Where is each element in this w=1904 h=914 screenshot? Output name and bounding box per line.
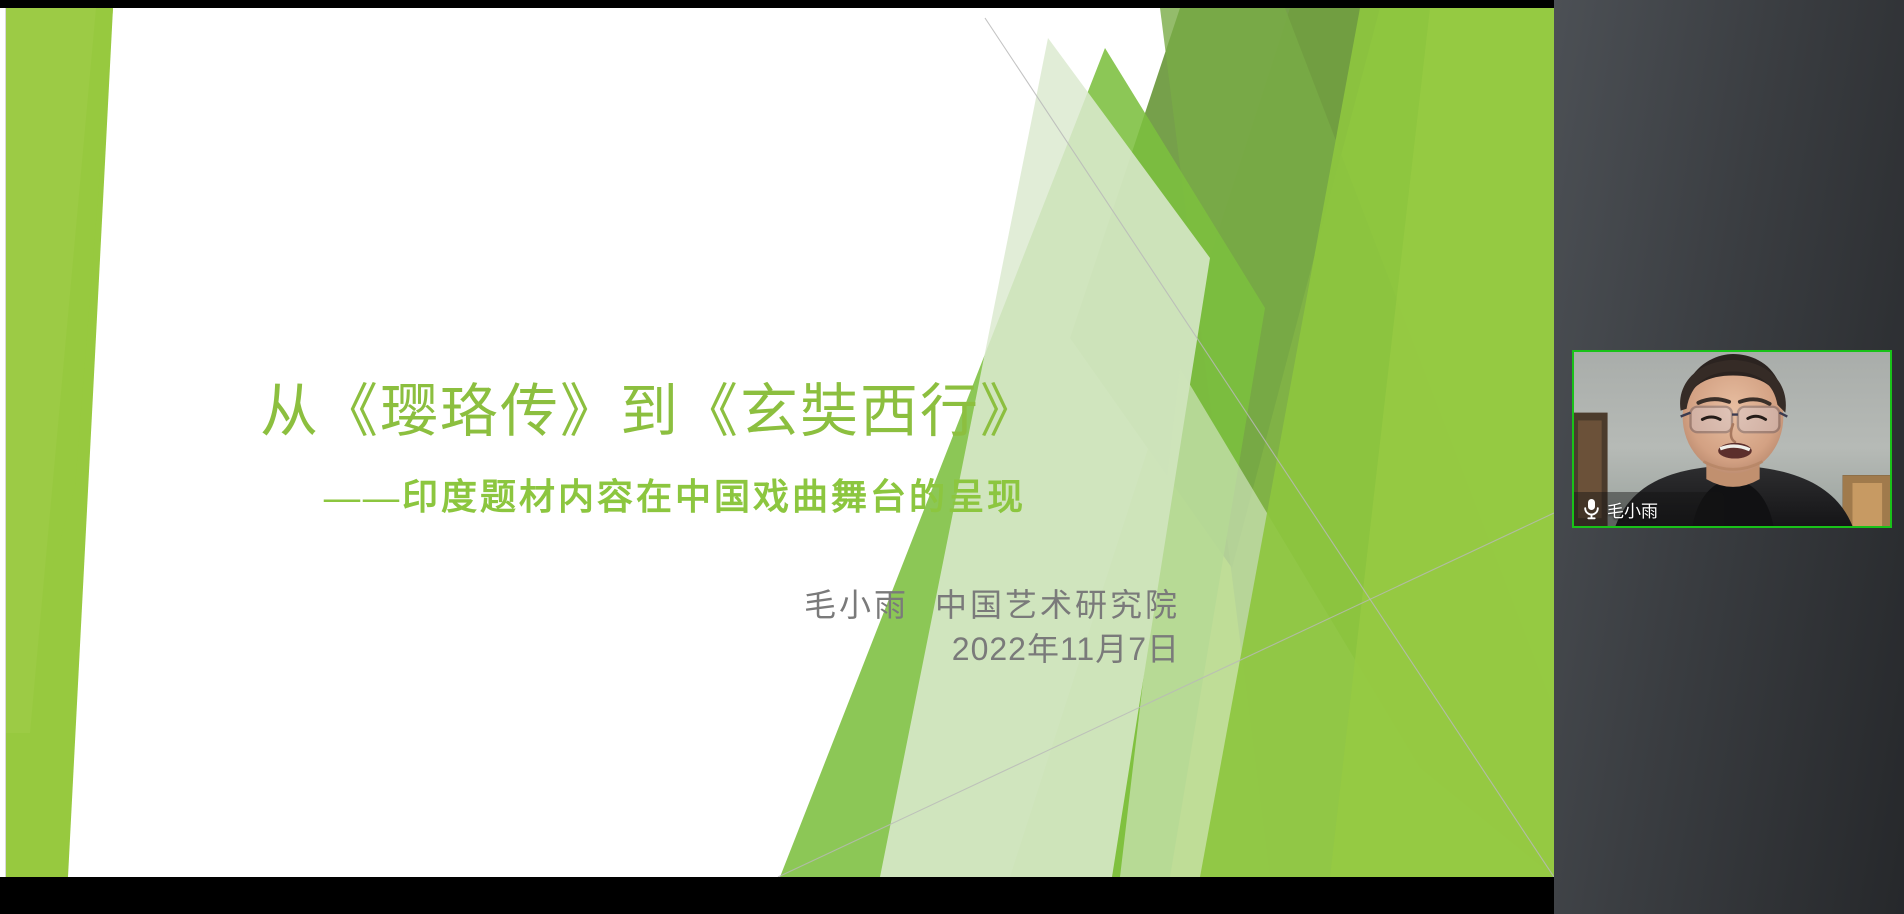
meeting-screen: 从《璎珞传》到《玄奘西行》 ——印度题材内容在中国戏曲舞台的呈现 毛小雨中国艺术… [0,0,1904,914]
participant-name: 毛小雨 [1607,497,1658,522]
slide-subtitle: ——印度题材内容在中国戏曲舞台的呈现 [150,468,1200,520]
slide-text-block: 从《璎珞传》到《玄奘西行》 ——印度题材内容在中国戏曲舞台的呈现 毛小雨中国艺术… [0,8,1554,877]
slide-author-line: 毛小雨中国艺术研究院 [0,580,1180,626]
presentation-slide: 从《璎珞传》到《玄奘西行》 ——印度题材内容在中国戏曲舞台的呈现 毛小雨中国艺术… [0,8,1554,877]
author-name: 毛小雨 [804,587,909,623]
participant-rail: 毛小雨 [1554,0,1904,914]
microphone-icon [1583,498,1600,520]
participant-name-chip: 毛小雨 [1574,492,1724,526]
slide-date: 2022年11月7日 [0,624,1180,670]
participant-video-tile[interactable]: 毛小雨 [1572,350,1892,528]
slide-title: 从《璎珞传》到《玄奘西行》 [150,380,1150,445]
shared-screen-region[interactable]: 从《璎珞传》到《玄奘西行》 ——印度题材内容在中国戏曲舞台的呈现 毛小雨中国艺术… [0,0,1554,914]
author-affiliation: 中国艺术研究院 [935,587,1180,623]
